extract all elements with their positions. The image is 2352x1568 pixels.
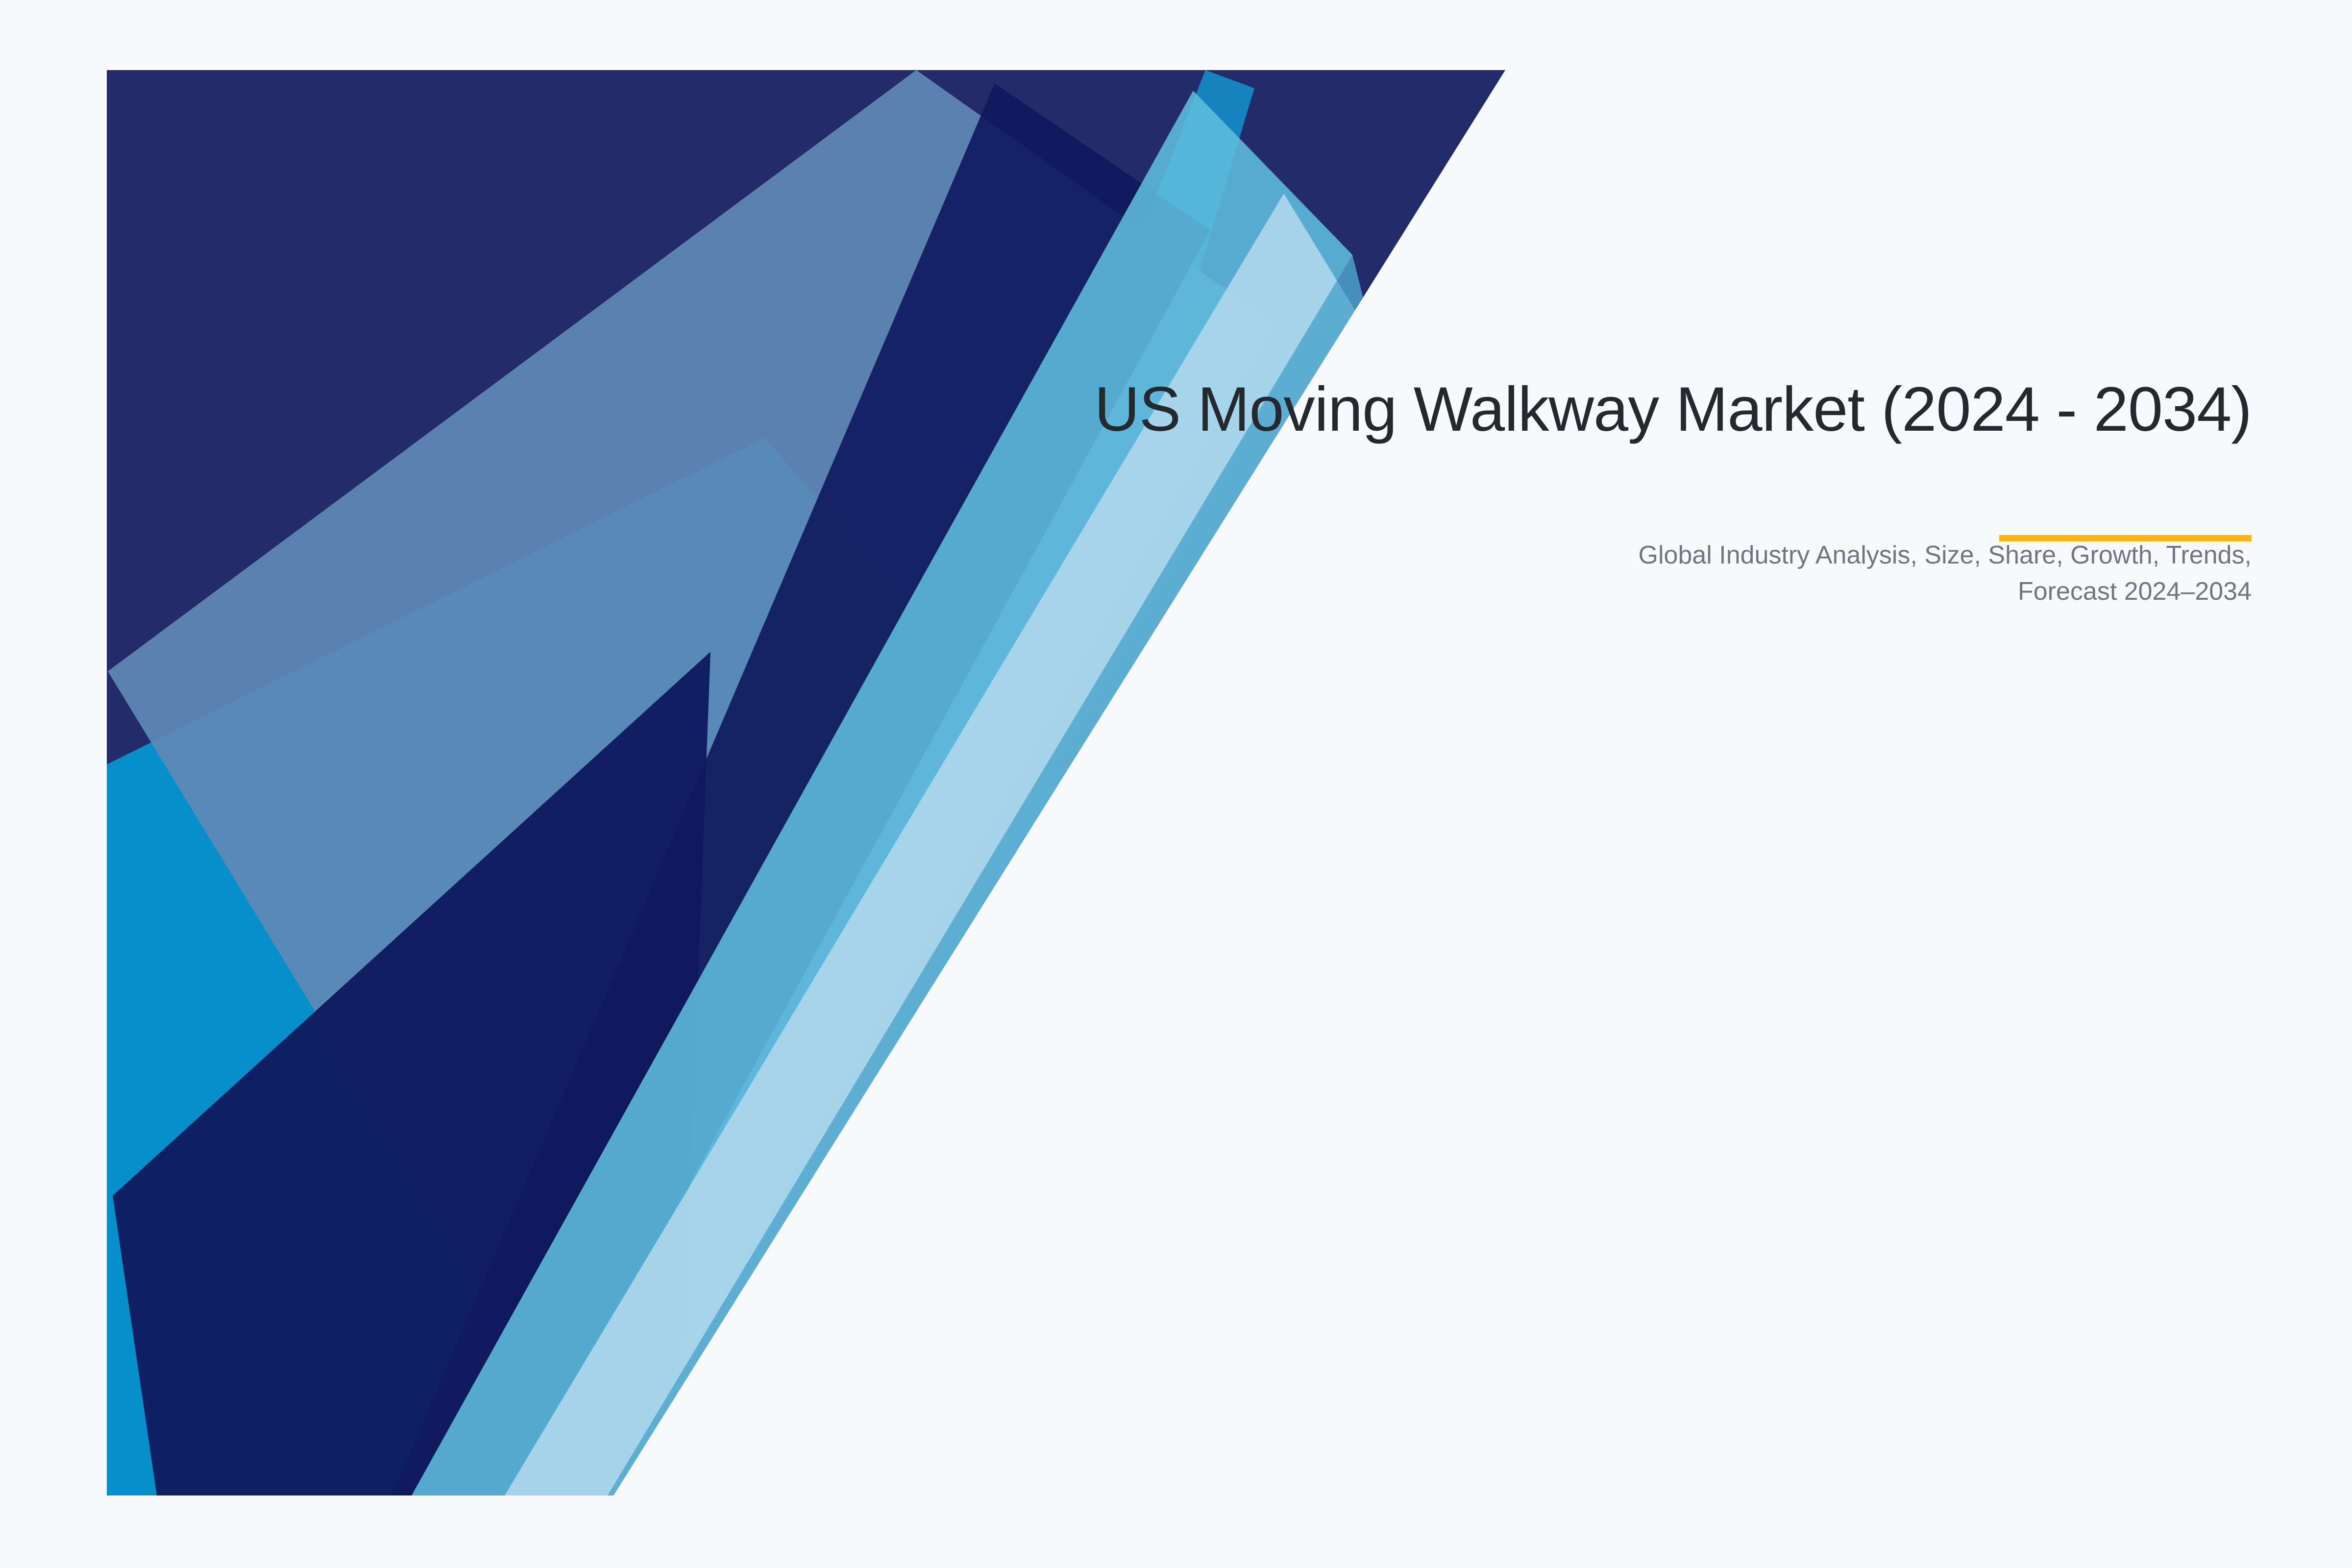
title-wrap: US Moving Walkway Market (2024 - 2034) xyxy=(831,372,2252,446)
page-title: US Moving Walkway Market (2024 - 2034) xyxy=(831,372,2252,446)
page-subtitle: Global Industry Analysis, Size, Share, G… xyxy=(1624,538,2252,610)
dark-navy-spike xyxy=(392,83,1210,1495)
title-underline-bar xyxy=(1999,535,2252,541)
sky-blue-band xyxy=(412,91,1352,1495)
slide-canvas: US Moving Walkway Market (2024 - 2034) G… xyxy=(0,0,2352,1568)
dark-navy-spear xyxy=(113,652,710,1495)
blue-gray-panel xyxy=(108,70,1274,1495)
abstract-polygon-graphic xyxy=(0,0,2352,1568)
cyan-field xyxy=(107,70,1508,1501)
cover-text-block: US Moving Walkway Market (2024 - 2034) G… xyxy=(831,372,2252,610)
